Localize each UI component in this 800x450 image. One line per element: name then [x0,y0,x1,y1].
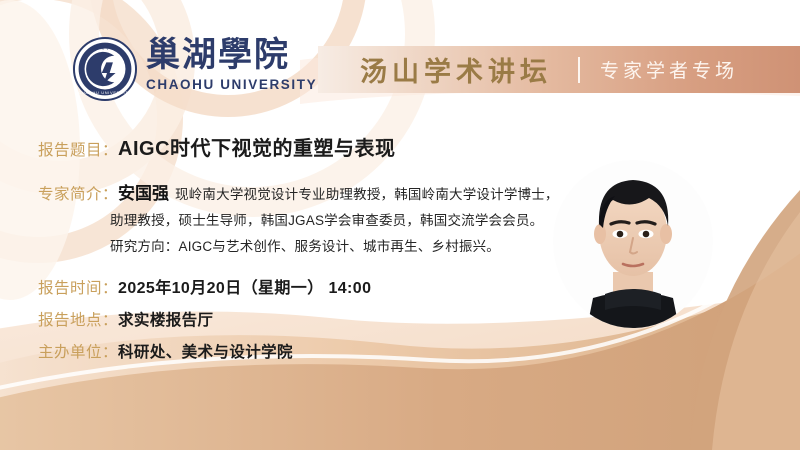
poster-content: 报告题目： AIGC时代下视觉的重塑与表现 专家简介： 安国强 现岭南大学视觉设… [38,132,578,372]
host-value: 科研处、美术与设计学院 [118,340,293,362]
university-logo-text: 巢湖學院 CHAOHU UNIVERSITY [146,36,306,100]
host-label: 主办单位： [38,340,118,362]
title-value: AIGC时代下视觉的重塑与表现 [118,132,396,161]
forum-banner: 汤山学术讲坛 专家学者专场 [318,46,800,93]
svg-text:CHAOHU UNIVERSITY: CHAOHU UNIVERSITY [78,90,131,95]
university-name-en: CHAOHU UNIVERSITY [146,76,306,94]
bio-line-2: 助理教授，硕士生导师，韩国JGAS学会审查委员，韩国交流学会会员。 [38,208,578,234]
time-value: 2025年10月20日（星期一） 14:00 [118,274,371,298]
bio-block: 专家简介： 安国强 现岭南大学视觉设计专业助理教授，韩国岭南大学设计学博士， 助… [38,179,578,260]
title-row: 报告题目： AIGC时代下视觉的重塑与表现 [38,132,578,161]
title-label: 报告题目： [38,138,118,160]
svg-text:巢 湖 学 院: 巢 湖 学 院 [94,44,116,51]
host-row: 主办单位： 科研处、美术与设计学院 [38,340,578,362]
time-row: 报告时间： 2025年10月20日（星期一） 14:00 [38,274,578,298]
forum-subtitle: 专家学者专场 [600,56,738,83]
bio-row-first: 专家简介： 安国强 现岭南大学视觉设计专业助理教授，韩国岭南大学设计学博士， [38,179,578,208]
place-value: 求实楼报告厅 [118,308,213,330]
time-label: 报告时间： [38,276,118,298]
banner-divider [578,57,580,83]
poster-canvas: 巢 湖 学 院 CHAOHU UNIVERSITY 巢湖學院 CHAOHU UN… [0,0,800,450]
poster-header: 巢 湖 学 院 CHAOHU UNIVERSITY 巢湖學院 CHAOHU UN… [0,0,800,120]
university-name-cn: 巢湖學院 [146,36,306,76]
university-emblem-icon: 巢 湖 学 院 CHAOHU UNIVERSITY [72,36,138,102]
forum-title: 汤山学术讲坛 [360,50,552,89]
place-label: 报告地点： [38,308,118,330]
bio-line-1: 现岭南大学视觉设计专业助理教授，韩国岭南大学设计学博士， [175,182,559,208]
bio-label: 专家简介： [38,182,118,204]
speaker-name: 安国强 [118,179,169,204]
bio-line-3: 研究方向：AIGC与艺术创作、服务设计、城市再生、乡村振兴。 [38,234,578,260]
place-row: 报告地点： 求实楼报告厅 [38,308,578,330]
